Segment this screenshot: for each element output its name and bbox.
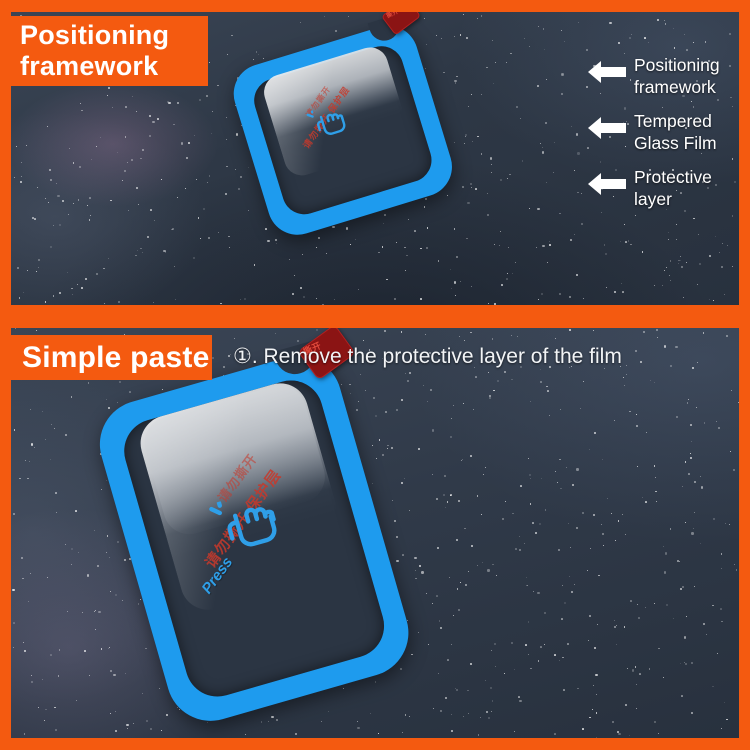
film-artwork-top: 请勿撕开 保护层 请勿撕开	[221, 18, 481, 248]
callout-positioning-framework: Positioning framework	[588, 54, 720, 98]
pull-tab-text-top: 撕开	[386, 12, 413, 21]
film-artwork-bottom: 请勿撕开 保护层 请勿撕开	[111, 358, 441, 738]
callout-protective-layer: Protective layer	[588, 166, 712, 210]
callout-text-1: Tempered Glass Film	[634, 110, 717, 154]
callout-2-line1: Protective	[634, 167, 712, 187]
positioning-frame-bottom: 请勿撕开 保护层 请勿撕开	[89, 346, 418, 732]
callout-tempered-glass-film: Tempered Glass Film	[588, 110, 717, 154]
banner-positioning-line2: framework	[20, 51, 158, 82]
callout-2-line2: layer	[634, 189, 672, 209]
positioning-frame-top: 请勿撕开 保护层 请勿撕开	[226, 18, 459, 242]
banner-positioning-line1: Positioning	[20, 20, 169, 51]
banner-simple-line1: Simple paste	[22, 341, 209, 375]
panel-positioning-framework: 请勿撕开 保护层 请勿撕开	[11, 12, 739, 305]
left-arrow-icon	[588, 59, 626, 85]
callout-0-line1: Positioning	[634, 55, 720, 75]
callout-text-2: Protective layer	[634, 166, 712, 210]
left-arrow-icon	[588, 115, 626, 141]
callout-1-line1: Tempered	[634, 111, 712, 131]
panel-simple-paste: 请勿撕开 保护层 请勿撕开	[11, 328, 739, 738]
callout-1-line2: Glass Film	[634, 133, 717, 153]
left-arrow-icon	[588, 171, 626, 197]
callout-text-0: Positioning framework	[634, 54, 720, 98]
step-one-text: ①. Remove the protective layer of the fi…	[233, 342, 622, 372]
banner-positioning-framework: Positioning framework	[11, 16, 208, 86]
callout-0-line2: framework	[634, 77, 716, 97]
banner-simple-paste: Simple paste	[11, 335, 212, 380]
infographic-page: 请勿撕开 保护层 请勿撕开	[0, 0, 750, 750]
